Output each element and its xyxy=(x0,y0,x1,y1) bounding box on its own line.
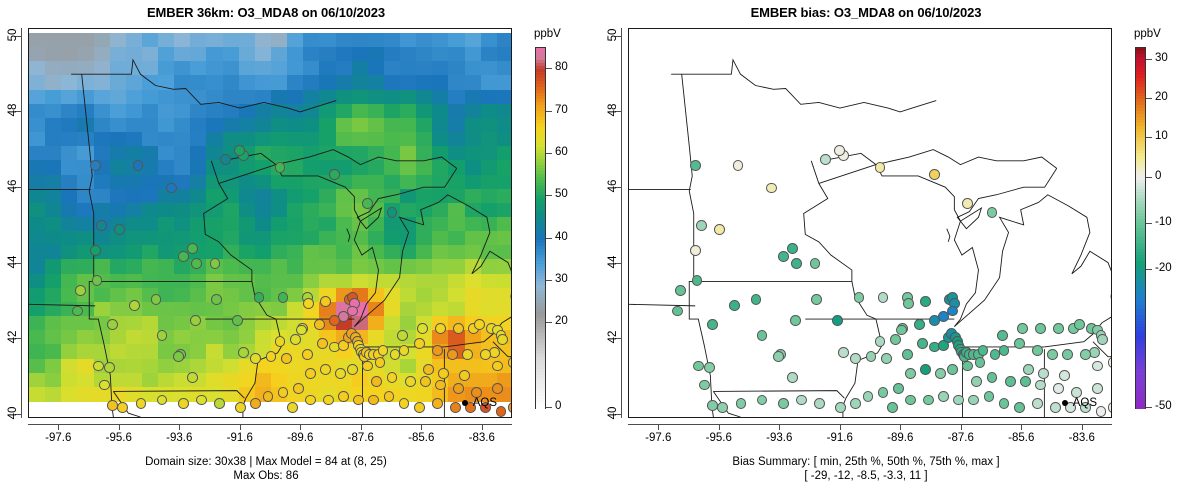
colorbar-tick-label: 50 xyxy=(555,188,568,200)
border-line xyxy=(439,195,511,316)
x-tick-label: -89.6 xyxy=(875,432,925,444)
observation-point xyxy=(474,319,485,330)
colorbar-tick-label: -10 xyxy=(1155,216,1172,228)
observation-point xyxy=(234,145,245,156)
x-tick xyxy=(119,424,120,430)
colorbar-tick xyxy=(1146,407,1152,408)
y-axis-line xyxy=(621,28,622,418)
observation-point xyxy=(178,251,189,262)
colorbar-tick-label: 70 xyxy=(555,104,568,116)
y-tick-label: 50 xyxy=(607,20,619,50)
observation-point xyxy=(302,349,313,360)
observation-point xyxy=(863,391,874,402)
observation-point xyxy=(90,160,101,171)
observation-point xyxy=(675,285,686,296)
colorbar-segment xyxy=(1136,405,1145,409)
x-tick xyxy=(779,424,780,430)
model-colorbar-gradient xyxy=(535,47,546,409)
observation-point xyxy=(881,353,892,364)
observation-point xyxy=(329,315,340,326)
observation-point xyxy=(190,315,201,326)
observation-point xyxy=(920,296,931,307)
observation-point xyxy=(733,160,744,171)
aqs-legend-bias: AQS xyxy=(1062,397,1097,409)
observation-point xyxy=(453,323,464,334)
observation-point xyxy=(196,395,207,406)
colorbar-tick-label: 30 xyxy=(555,273,568,285)
observation-point xyxy=(820,154,831,165)
observation-point xyxy=(704,362,715,373)
border-line xyxy=(354,202,438,326)
x-tick-label: -83.6 xyxy=(457,432,507,444)
observation-point xyxy=(1038,368,1049,379)
observation-point xyxy=(107,319,118,330)
observation-point xyxy=(417,323,428,334)
observation-point xyxy=(375,357,386,368)
observation-point xyxy=(1047,349,1058,360)
observation-point xyxy=(914,319,925,330)
observation-point xyxy=(875,336,886,347)
x-tick xyxy=(1021,424,1022,430)
y-tick-label: 40 xyxy=(607,398,619,428)
observation-point xyxy=(811,294,822,305)
observation-point xyxy=(232,315,243,326)
x-tick-label: -93.6 xyxy=(154,432,204,444)
observation-point xyxy=(178,398,189,409)
observation-point xyxy=(387,372,398,383)
observation-point xyxy=(314,319,325,330)
observation-point xyxy=(508,357,512,368)
border-line xyxy=(671,60,936,112)
x-tick-label: -91.6 xyxy=(215,432,265,444)
x-tick-label: -91.6 xyxy=(815,432,865,444)
observation-point xyxy=(796,395,807,406)
colorbar-tick-label: 0 xyxy=(555,400,561,412)
observation-point xyxy=(75,285,86,296)
observation-point xyxy=(773,351,784,362)
observation-point xyxy=(266,351,277,362)
colorbar-tick xyxy=(1146,137,1152,138)
observation-point xyxy=(497,334,508,345)
x-tick xyxy=(1082,424,1083,430)
observation-point xyxy=(893,383,904,394)
bias-colorbar-title: ppbV xyxy=(1134,28,1161,40)
observation-point xyxy=(1023,364,1034,375)
observation-point xyxy=(902,349,913,360)
observation-point xyxy=(362,198,373,209)
observation-point xyxy=(1020,376,1031,387)
observation-point xyxy=(1035,380,1046,391)
x-tick-label: -97.6 xyxy=(33,432,83,444)
observation-point xyxy=(1032,345,1043,356)
x-axis-line xyxy=(628,424,1112,425)
observation-point xyxy=(435,380,446,391)
x-tick-label: -93.6 xyxy=(754,432,804,444)
observation-point xyxy=(787,243,798,254)
panel-model: EMBER 36km: O3_MDA8 on 06/10/2023 AQS -9… xyxy=(0,0,600,502)
x-tick xyxy=(300,424,301,430)
observation-point xyxy=(90,245,101,256)
observation-point xyxy=(984,391,995,402)
observation-point xyxy=(414,402,425,413)
observation-point xyxy=(887,402,898,413)
observation-point xyxy=(414,338,425,349)
colorbar-tick xyxy=(546,407,552,408)
bias-map-frame: AQS xyxy=(628,28,1112,418)
observation-point xyxy=(496,406,507,417)
observation-point xyxy=(281,353,292,364)
observation-point xyxy=(975,357,986,368)
observation-point xyxy=(971,376,982,387)
observation-point xyxy=(778,251,789,262)
y-tick-label: 48 xyxy=(607,95,619,125)
observation-point xyxy=(917,338,928,349)
border-line xyxy=(71,60,336,112)
observation-point xyxy=(1032,398,1043,409)
colorbar-tick-label: 80 xyxy=(555,61,568,73)
x-tick xyxy=(900,424,901,430)
x-tick xyxy=(58,424,59,430)
bias-caption-line1: Bias Summary: [ min, 25th %, 50th %, 75t… xyxy=(600,455,1132,469)
x-tick xyxy=(482,424,483,430)
border-line xyxy=(222,150,457,169)
border-line xyxy=(354,168,456,326)
x-tick-label: -89.6 xyxy=(275,432,325,444)
observation-point xyxy=(1035,323,1046,334)
x-tick-label: -95.6 xyxy=(694,432,744,444)
colorbar-tick xyxy=(546,153,552,154)
aqs-marker-icon xyxy=(462,400,468,406)
colorbar-tick xyxy=(546,280,552,281)
observation-point xyxy=(938,391,949,402)
colorbar-tick-label: 60 xyxy=(555,146,568,158)
colorbar-tick xyxy=(1146,98,1152,99)
colorbar-tick xyxy=(1146,59,1152,60)
observation-point xyxy=(1053,383,1064,394)
x-tick-label: -85.6 xyxy=(396,432,446,444)
border-line xyxy=(822,150,1057,169)
x-tick-label: -87.6 xyxy=(936,432,986,444)
observation-point xyxy=(766,183,777,194)
observation-point xyxy=(420,376,431,387)
observation-point xyxy=(462,349,473,360)
aqs-legend-label: AQS xyxy=(1073,397,1097,409)
observation-point xyxy=(438,368,449,379)
observation-point xyxy=(187,372,198,383)
observation-point xyxy=(920,364,931,375)
observation-point xyxy=(729,300,740,311)
model-caption-line2: Max Obs: 86 xyxy=(0,469,532,483)
colorbar-tick xyxy=(1146,269,1152,270)
observation-point xyxy=(1014,338,1025,349)
observation-point xyxy=(905,395,916,406)
border-line xyxy=(1039,195,1111,316)
colorbar-tick xyxy=(546,68,552,69)
observation-point xyxy=(1017,323,1028,334)
observation-point xyxy=(432,345,443,356)
y-tick-label: 50 xyxy=(7,20,19,50)
y-tick-label: 46 xyxy=(7,171,19,201)
border-line xyxy=(954,202,1038,326)
observation-point xyxy=(1096,406,1107,417)
observation-point xyxy=(1108,357,1112,368)
x-tick-label: -85.6 xyxy=(996,432,1046,444)
observation-point xyxy=(104,362,115,373)
observation-point xyxy=(305,395,316,406)
observation-point xyxy=(338,391,349,402)
observation-point xyxy=(220,154,231,165)
observation-point xyxy=(866,351,877,362)
observation-point xyxy=(435,323,446,334)
colorbar-tick xyxy=(1146,177,1152,178)
observation-point xyxy=(987,372,998,383)
model-map-frame: AQS xyxy=(28,28,512,418)
y-axis-line xyxy=(21,28,22,418)
bias-panel-title: EMBER bias: O3_MDA8 on 06/10/2023 xyxy=(600,5,1132,20)
observation-point xyxy=(935,368,946,379)
observation-point xyxy=(890,334,901,345)
x-tick xyxy=(719,424,720,430)
observation-point xyxy=(447,349,458,360)
y-tick-label: 42 xyxy=(7,322,19,352)
observation-point xyxy=(1059,370,1070,381)
observation-point xyxy=(707,400,718,411)
observation-point xyxy=(834,145,845,156)
colorbar-tick-label: 0 xyxy=(1155,170,1161,182)
colorbar-tick xyxy=(546,111,552,112)
observation-point xyxy=(211,294,222,305)
y-tick-label: 44 xyxy=(7,247,19,277)
y-tick-label: 40 xyxy=(7,398,19,428)
border-line xyxy=(629,301,695,306)
observation-point xyxy=(405,376,416,387)
observation-point xyxy=(335,368,346,379)
observation-point xyxy=(187,243,198,254)
observation-point xyxy=(432,398,443,409)
observation-point xyxy=(690,245,701,256)
model-panel-title: EMBER 36km: O3_MDA8 on 06/10/2023 xyxy=(0,5,532,20)
observation-point xyxy=(790,315,801,326)
observation-point xyxy=(707,319,718,330)
observation-point xyxy=(384,391,395,402)
observation-point xyxy=(275,162,286,173)
observation-point xyxy=(832,315,843,326)
observation-point xyxy=(305,368,316,379)
colorbar-tick-label: -20 xyxy=(1155,262,1172,274)
aqs-legend-model: AQS xyxy=(462,397,497,409)
x-axis-line xyxy=(28,424,512,425)
observation-point xyxy=(320,364,331,375)
observation-point xyxy=(1050,402,1061,413)
y-tick-label: 44 xyxy=(607,247,619,277)
y-tick-label: 42 xyxy=(607,322,619,352)
observation-point xyxy=(1097,334,1108,345)
observation-point xyxy=(1053,323,1064,334)
observation-point xyxy=(690,160,701,171)
border-line xyxy=(713,391,844,399)
observation-point xyxy=(459,370,470,381)
observation-point xyxy=(107,400,118,411)
x-tick-label: -95.6 xyxy=(94,432,144,444)
observation-point xyxy=(672,306,683,317)
x-tick xyxy=(179,424,180,430)
observation-point xyxy=(397,330,408,341)
colorbar-tick-label: -50 xyxy=(1155,400,1172,412)
model-colorbar-title: ppbV xyxy=(534,28,561,40)
observation-point xyxy=(263,391,274,402)
observation-point xyxy=(1005,376,1016,387)
y-tick-label: 46 xyxy=(607,171,619,201)
bias-caption-line2: [ -29, -12, -8.5, -3.3, 11 ] xyxy=(600,469,1132,483)
y-tick-label: 48 xyxy=(7,95,19,125)
observation-point xyxy=(133,160,144,171)
observation-point xyxy=(787,372,798,383)
observation-point xyxy=(1074,319,1085,330)
x-tick-label: -97.6 xyxy=(633,432,683,444)
x-tick-label: -83.6 xyxy=(1057,432,1107,444)
observation-point xyxy=(275,336,286,347)
observation-point xyxy=(453,383,464,394)
x-tick xyxy=(840,424,841,430)
colorbar-tick-label: 10 xyxy=(1155,130,1168,142)
colorbar-tick-label: 20 xyxy=(1155,91,1168,103)
border-line xyxy=(113,391,244,399)
x-tick-label: -87.6 xyxy=(336,432,386,444)
model-caption-line1: Domain size: 30x38 | Max Model = 84 at (… xyxy=(0,455,532,469)
observation-point xyxy=(293,383,304,394)
colorbar-tick xyxy=(1146,223,1152,224)
observation-point xyxy=(1062,349,1073,360)
colorbar-tick-label: 30 xyxy=(1155,52,1168,64)
observation-point xyxy=(166,183,177,194)
x-tick xyxy=(240,424,241,430)
observation-point xyxy=(905,368,916,379)
x-tick xyxy=(961,424,962,430)
observation-point xyxy=(875,162,886,173)
bias-colorbar: ppbV 3020100-10-20-50 xyxy=(1132,0,1200,502)
observation-point xyxy=(290,334,301,345)
border-line xyxy=(29,301,95,306)
colorbar-tick xyxy=(546,238,552,239)
observation-point xyxy=(72,306,83,317)
colorbar-tick xyxy=(546,322,552,323)
observation-point xyxy=(423,364,434,375)
colorbar-segment xyxy=(536,405,545,409)
border-line xyxy=(947,229,950,242)
x-tick xyxy=(361,424,362,430)
observation-point xyxy=(450,402,461,413)
observation-point xyxy=(997,330,1008,341)
aqs-marker-icon xyxy=(1062,400,1068,406)
colorbar-tick-label: 40 xyxy=(555,231,568,243)
bias-colorbar-gradient xyxy=(1135,47,1146,409)
colorbar-tick-label: 20 xyxy=(555,315,568,327)
border-line xyxy=(954,168,1056,326)
observation-point xyxy=(371,376,382,387)
observation-point xyxy=(129,300,140,311)
panel-bias: EMBER bias: O3_MDA8 on 06/10/2023 AQS -9… xyxy=(600,0,1200,502)
observation-point xyxy=(320,296,331,307)
model-colorbar: ppbV 807060504030200 xyxy=(532,0,600,502)
observation-point xyxy=(1014,402,1025,413)
observation-point xyxy=(962,198,973,209)
x-tick xyxy=(658,424,659,430)
observation-point xyxy=(317,338,328,349)
observation-point xyxy=(929,315,940,326)
aqs-legend-label: AQS xyxy=(473,397,497,409)
observation-point xyxy=(287,402,298,413)
colorbar-tick xyxy=(546,195,552,196)
observation-point xyxy=(173,351,184,362)
observation-point xyxy=(778,398,789,409)
border-line xyxy=(347,229,350,242)
x-tick xyxy=(421,424,422,430)
